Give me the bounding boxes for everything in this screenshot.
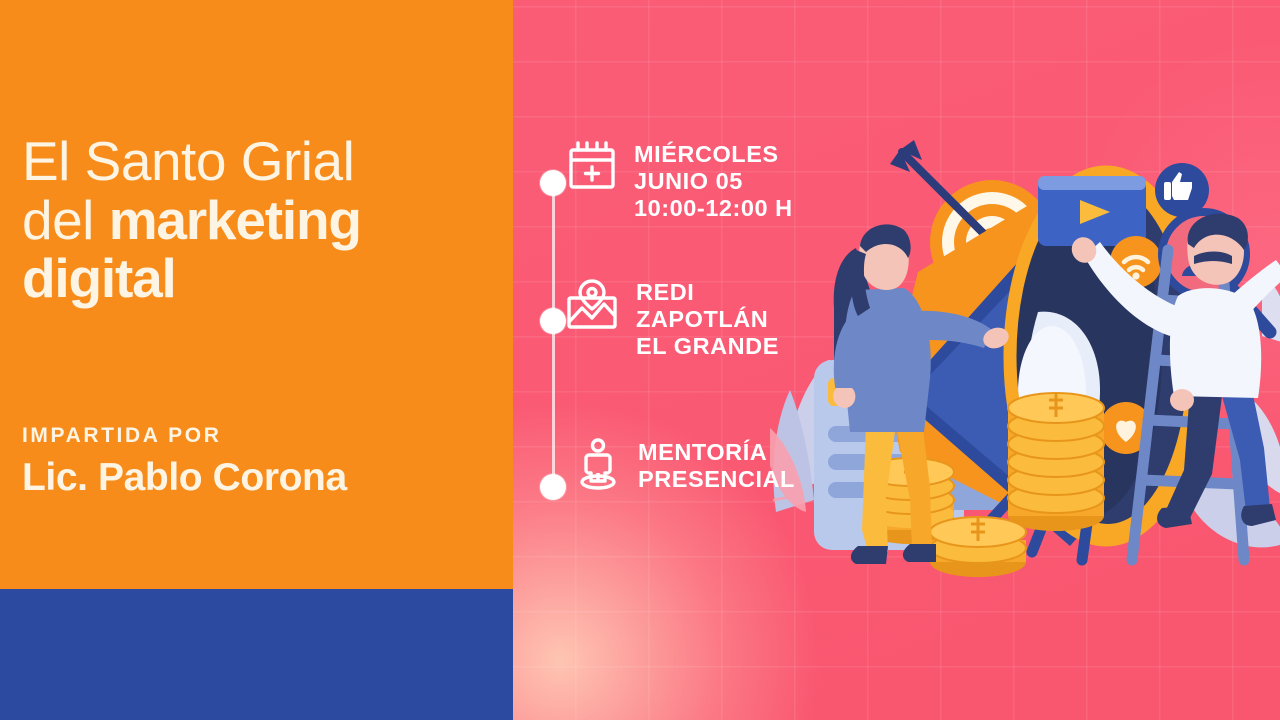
poster-canvas: El Santo Grial del marketing digital IMP… <box>0 0 1280 720</box>
location-line-1: REDi <box>636 279 779 306</box>
title-line-1: El Santo Grial <box>22 135 502 188</box>
info-item-date-text: MIÉRCOLES JUNIO 05 10:00-12:00 H <box>634 140 793 221</box>
speaker-kicker: IMPARTIDA POR <box>22 424 492 448</box>
info-item-date: MIÉRCOLES JUNIO 05 10:00-12:00 H <box>568 140 793 221</box>
timeline-connector <box>540 170 566 500</box>
info-item-mode: MENTORÍA PRESENCIAL <box>576 438 795 493</box>
location-line-3: EL GRANDE <box>636 333 779 360</box>
date-line-2: JUNIO 05 <box>634 168 793 195</box>
standing-person-icon <box>576 438 620 490</box>
speaker-block: IMPARTIDA POR Lic. Pablo Corona <box>22 424 492 500</box>
coin-single <box>930 517 1026 577</box>
date-line-3: 10:00-12:00 H <box>634 195 793 222</box>
timeline-dot-2 <box>540 308 566 334</box>
coin-stack-right <box>1008 393 1104 531</box>
page-title: El Santo Grial del marketing digital <box>22 135 502 305</box>
location-line-2: ZAPOTLÁN <box>636 306 779 333</box>
map-pin-icon <box>566 278 618 330</box>
play-button-card <box>1038 176 1146 246</box>
digital-marketing-illustration <box>770 60 1280 620</box>
mode-line-1: MENTORÍA <box>638 439 795 466</box>
timeline-line <box>552 184 555 490</box>
title-line-2-light: del <box>22 189 109 251</box>
timeline-dot-1 <box>540 170 566 196</box>
title-line-2: del marketing <box>22 194 502 247</box>
mode-line-2: PRESENCIAL <box>638 466 795 493</box>
calendar-plus-icon <box>568 140 616 190</box>
date-line-1: MIÉRCOLES <box>634 141 793 168</box>
info-item-location: REDi ZAPOTLÁN EL GRANDE <box>566 278 779 359</box>
info-item-mode-text: MENTORÍA PRESENCIAL <box>638 438 795 493</box>
speaker-name: Lic. Pablo Corona <box>22 456 492 500</box>
info-item-location-text: REDi ZAPOTLÁN EL GRANDE <box>636 278 779 359</box>
timeline-dot-3 <box>540 474 566 500</box>
title-line-3: digital <box>22 252 502 305</box>
bottom-blue-band <box>0 589 513 720</box>
title-line-2-bold: marketing <box>109 189 361 251</box>
